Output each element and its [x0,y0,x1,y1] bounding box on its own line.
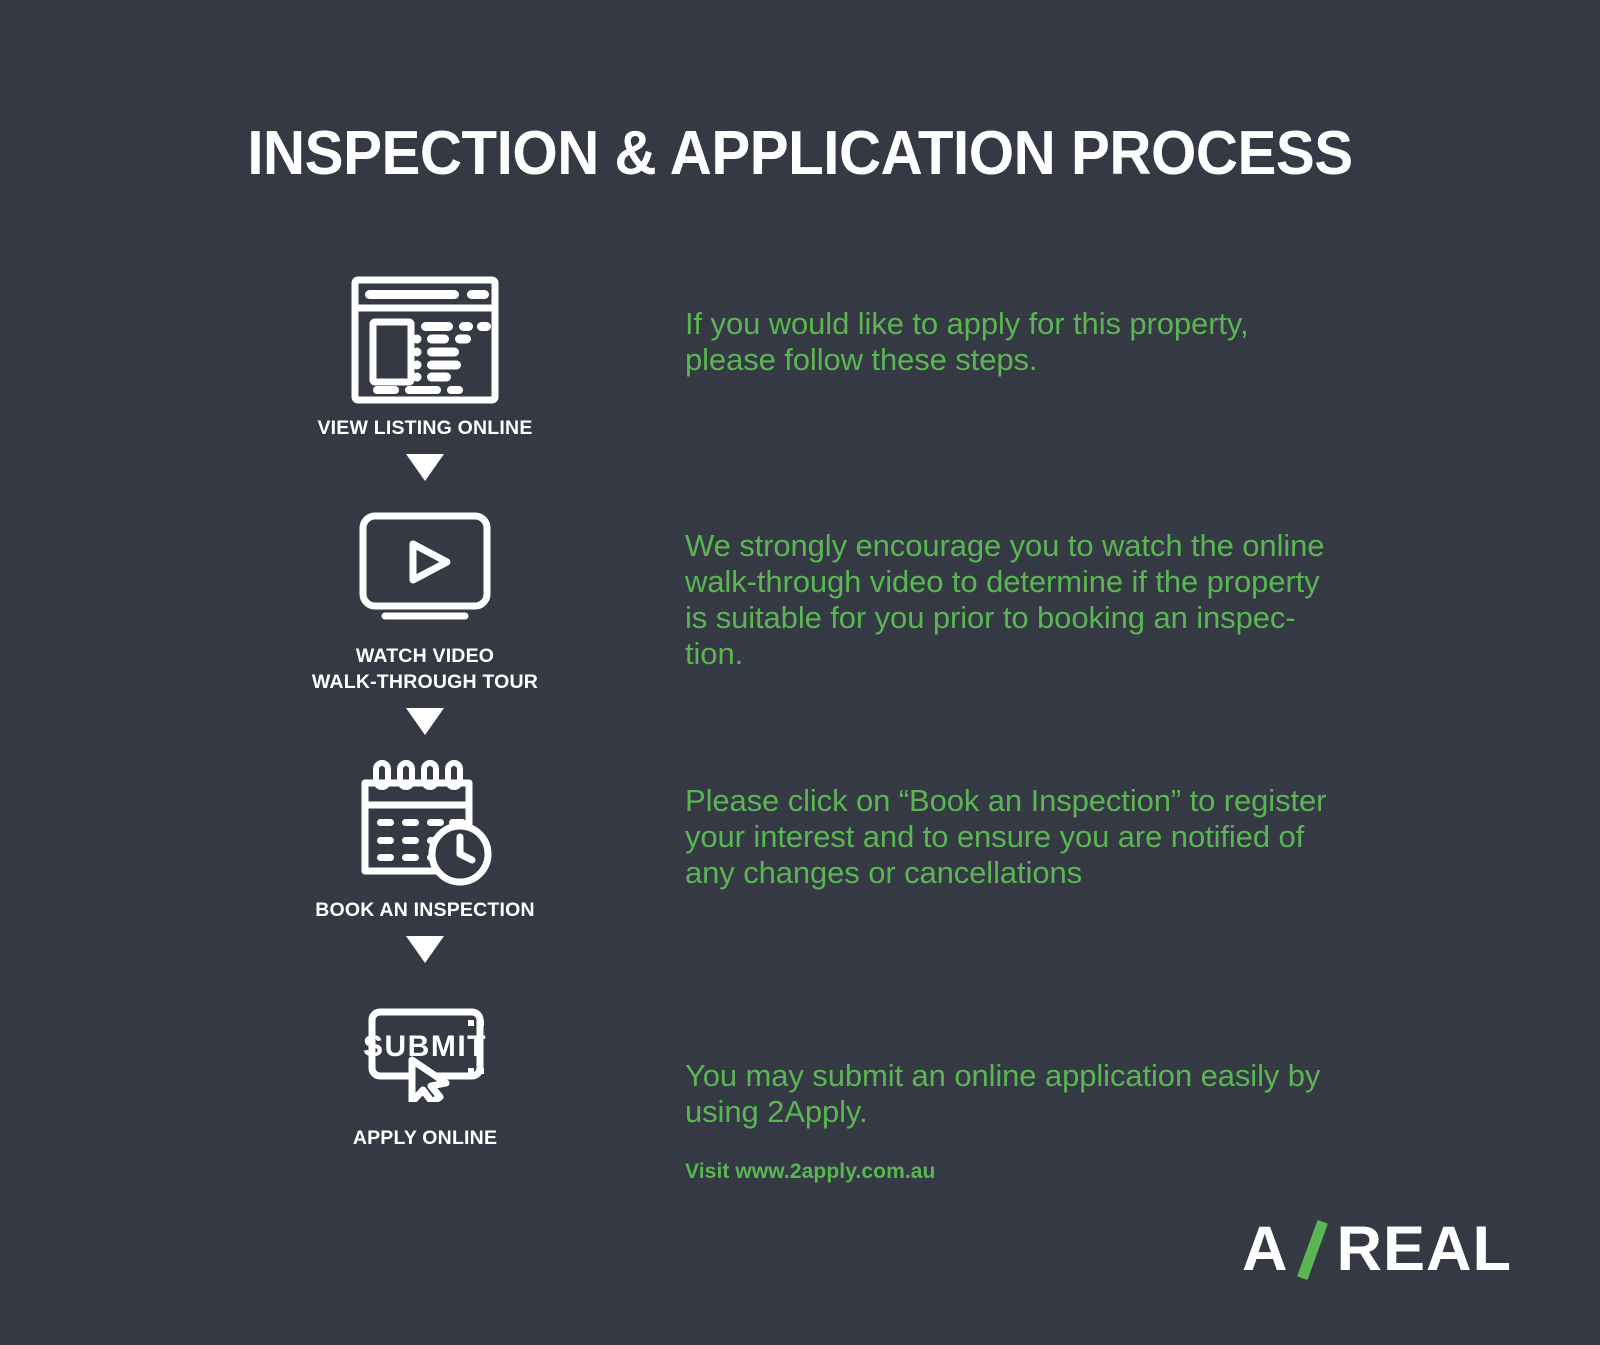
visit-url-text[interactable]: Visit www.2apply.com.au [685,1160,936,1184]
step-1-label: VIEW LISTING ONLINE [300,415,550,441]
down-arrow-icon [406,708,444,735]
brand-logo: A REAL [1242,1218,1512,1280]
paragraph-apply-online: You may submit an online application eas… [685,1058,1405,1130]
step-2-label: WATCH VIDEO WALK-THROUGH TOUR [300,643,550,695]
step-3-icon-wrap [300,747,550,897]
paragraph-apply-intro: If you would like to apply for this prop… [685,306,1405,378]
step-1-icon-wrap [300,265,550,415]
logo-letter-a: A [1242,1218,1289,1281]
page-title: INSPECTION & APPLICATION PROCESS [48,118,1552,189]
separator-arrow-2 [300,695,550,747]
step-2-icon-wrap [300,493,550,643]
separator-arrow-1 [300,441,550,493]
step-watch-video: WATCH VIDEO WALK-THROUGH TOUR [300,493,550,695]
paragraph-watch-video: We strongly encourage you to watch the o… [685,528,1405,672]
calendar-clock-icon [355,757,495,887]
down-arrow-icon [406,936,444,963]
down-arrow-icon [406,454,444,481]
separator-arrow-3 [300,923,550,975]
step-3-label: BOOK AN INSPECTION [300,897,550,923]
submit-icon-text: SUBMIT [363,1030,487,1063]
logo-word-real: REAL [1337,1218,1513,1281]
process-steps-column: VIEW LISTING ONLINE WATCH VIDEO WALK-THR… [300,265,550,1151]
step-view-listing-online: VIEW LISTING ONLINE [300,265,550,441]
logo-slash-icon [1295,1218,1329,1280]
infographic-canvas: INSPECTION & APPLICATION PROCESS [0,0,1600,1345]
step-book-inspection: BOOK AN INSPECTION [300,747,550,923]
browser-listing-icon [351,276,499,404]
paragraph-book-inspection: Please click on “Book an Inspection” to … [685,783,1405,891]
step-4-label: APPLY ONLINE [300,1125,550,1151]
step-apply-online: SUBMIT APPLY ONLINE [300,975,550,1151]
video-play-monitor-icon [351,508,499,628]
step-4-icon-wrap: SUBMIT [300,975,550,1125]
submit-button-cursor-icon: SUBMIT [350,998,500,1102]
